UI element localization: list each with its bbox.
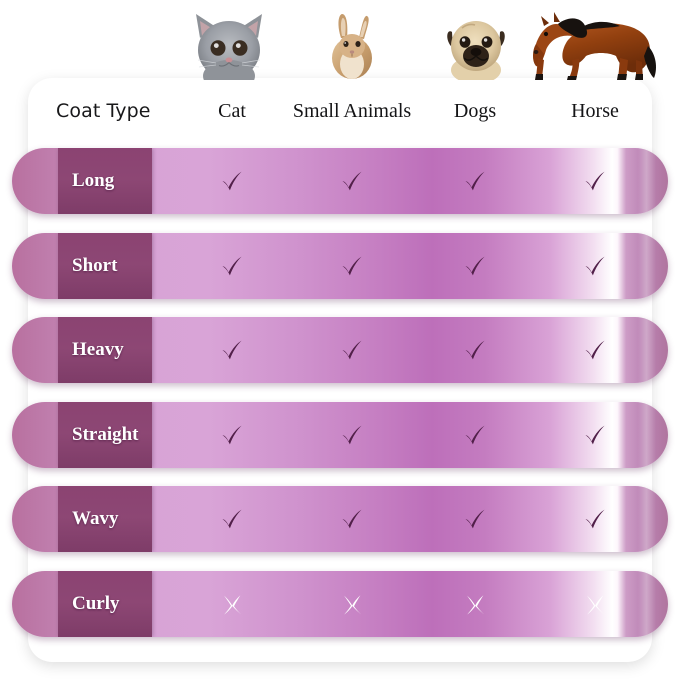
- table-row: Long: [12, 148, 668, 214]
- cross-icon: [215, 587, 249, 621]
- check-icon: [215, 418, 249, 452]
- row-label-text: Short: [72, 255, 117, 277]
- table-row: Straight: [12, 402, 668, 468]
- check-icon: [458, 249, 492, 283]
- row-label-text: Heavy: [72, 339, 124, 361]
- check-icon: [458, 164, 492, 198]
- row-label-text: Long: [72, 170, 114, 192]
- check-icon: [458, 333, 492, 367]
- cross-icon: [578, 587, 612, 621]
- check-icon: [215, 333, 249, 367]
- table-row: Curly: [12, 571, 668, 637]
- horse-photo: [524, 6, 662, 80]
- check-icon: [215, 164, 249, 198]
- table-rows-container: LongShortHeavyStraightWavyCurly: [0, 0, 679, 679]
- row-label-text: Wavy: [72, 508, 118, 530]
- check-icon: [215, 249, 249, 283]
- check-icon: [335, 502, 369, 536]
- row-label-text: Curly: [72, 593, 120, 615]
- row-label-cell: Short: [58, 233, 152, 299]
- table-row: Heavy: [12, 317, 668, 383]
- check-icon: [458, 418, 492, 452]
- table-row: Wavy: [12, 486, 668, 552]
- row-label-cell: Straight: [58, 402, 152, 468]
- check-icon: [335, 164, 369, 198]
- row-label-cell: Heavy: [58, 317, 152, 383]
- check-icon: [578, 164, 612, 198]
- check-icon: [215, 502, 249, 536]
- cross-icon: [335, 587, 369, 621]
- cat-photo: [186, 8, 272, 80]
- row-label-cell: Curly: [58, 571, 152, 637]
- rabbit-photo: [322, 12, 382, 80]
- pug-photo: [440, 8, 512, 80]
- check-icon: [578, 502, 612, 536]
- row-label-cell: Long: [58, 148, 152, 214]
- check-icon: [578, 333, 612, 367]
- check-icon: [335, 418, 369, 452]
- cross-icon: [458, 587, 492, 621]
- check-icon: [458, 502, 492, 536]
- check-icon: [335, 249, 369, 283]
- row-label-text: Straight: [72, 424, 139, 446]
- animal-photo-strip: [0, 0, 679, 80]
- check-icon: [578, 418, 612, 452]
- row-label-cell: Wavy: [58, 486, 152, 552]
- table-row: Short: [12, 233, 668, 299]
- check-icon: [335, 333, 369, 367]
- check-icon: [578, 249, 612, 283]
